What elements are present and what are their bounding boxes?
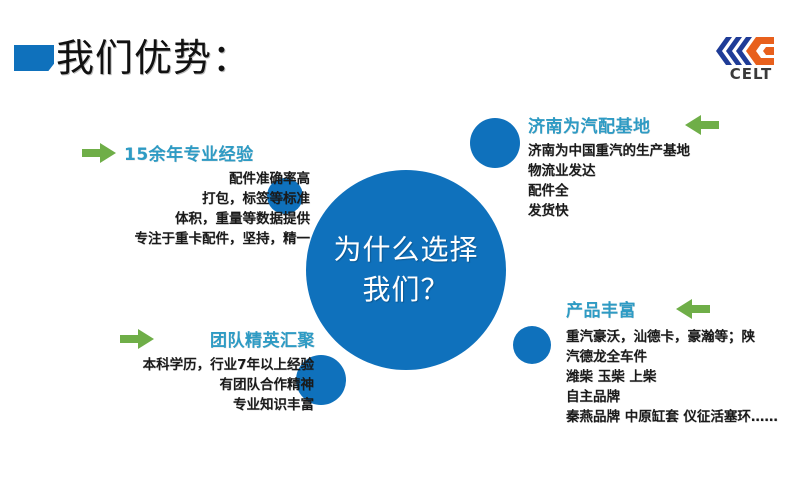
celt-chevron-logo-icon xyxy=(712,34,790,68)
block-team-line: 专业知识丰富 xyxy=(52,395,314,415)
block-base-line: 发货快 xyxy=(528,201,788,221)
block-products-line: 重汽豪沃，汕德卡，豪瀚等；陕 xyxy=(566,327,800,347)
block-base-heading: 济南为汽配基地 xyxy=(528,112,651,137)
block-base-line: 济南为中国重汽的生产基地 xyxy=(528,141,788,161)
block-experience-header: 15余年专业经验 xyxy=(60,140,310,165)
block-experience-line: 体积，重量等数据提供 xyxy=(60,209,310,229)
block-products-heading: 产品丰富 xyxy=(566,296,636,321)
block-products-line: 潍柴 玉柴 上柴 xyxy=(566,367,800,387)
block-products-line: 秦燕品牌 中原缸套 仪征活塞环…… xyxy=(566,407,800,427)
block-experience: 15余年专业经验 配件准确率高 打包，标签等标准 体积，重量等数据提供 专注于重… xyxy=(60,140,310,249)
block-products-body: 重汽豪沃，汕德卡，豪瀚等；陕 汽德龙全车件 潍柴 玉柴 上柴 自主品牌 秦燕品牌… xyxy=(566,327,800,427)
block-experience-line: 专注于重卡配件，坚持，精一 xyxy=(60,229,310,249)
block-base-line: 配件全 xyxy=(528,181,788,201)
block-team-heading: 团队精英汇聚 xyxy=(210,326,315,351)
slide-canvas: 我们优势： CELT 为什么选择我们？ 15余年专业经验 配件准确率高 打包，标… xyxy=(0,0,800,480)
block-team-body: 本科学历，行业7年以上经验 有团队合作精神 专业知识丰富 xyxy=(52,355,314,415)
block-base-header: 济南为汽配基地 xyxy=(528,112,788,137)
arrow-right-green-icon xyxy=(82,143,116,163)
block-products-line: 自主品牌 xyxy=(566,387,800,407)
arrow-left-green-icon xyxy=(676,299,710,319)
block-team-line: 有团队合作精神 xyxy=(52,375,314,395)
company-logo: CELT xyxy=(712,34,790,84)
circle-base xyxy=(470,118,520,168)
block-team-header: 团队精英汇聚 xyxy=(52,326,314,351)
block-base: 济南为汽配基地 济南为中国重汽的生产基地 物流业发达 配件全 发货快 xyxy=(528,112,788,221)
block-team-line: 本科学历，行业7年以上经验 xyxy=(52,355,314,375)
block-base-line: 物流业发达 xyxy=(528,161,788,181)
block-products-line: 汽德龙全车件 xyxy=(566,347,800,367)
circle-products xyxy=(513,326,551,364)
title-flag-icon xyxy=(14,45,54,71)
block-experience-body: 配件准确率高 打包，标签等标准 体积，重量等数据提供 专注于重卡配件，坚持，精一 xyxy=(60,169,310,249)
arrow-left-green-icon xyxy=(685,115,719,135)
page-title: 我们优势： xyxy=(56,32,251,84)
block-experience-line: 打包，标签等标准 xyxy=(60,189,310,209)
block-team: 团队精英汇聚 本科学历，行业7年以上经验 有团队合作精神 专业知识丰富 xyxy=(52,326,314,415)
logo-text: CELT xyxy=(712,67,790,82)
block-base-body: 济南为中国重汽的生产基地 物流业发达 配件全 发货快 xyxy=(528,141,788,221)
center-circle: 为什么选择我们？ xyxy=(306,170,506,370)
block-experience-line: 配件准确率高 xyxy=(60,169,310,189)
center-circle-text: 为什么选择我们？ xyxy=(331,230,481,310)
block-experience-heading: 15余年专业经验 xyxy=(124,140,254,165)
arrow-right-green-icon xyxy=(120,329,154,349)
block-products-header: 产品丰富 xyxy=(566,296,800,321)
block-products: 产品丰富 重汽豪沃，汕德卡，豪瀚等；陕 汽德龙全车件 潍柴 玉柴 上柴 自主品牌… xyxy=(566,296,800,427)
